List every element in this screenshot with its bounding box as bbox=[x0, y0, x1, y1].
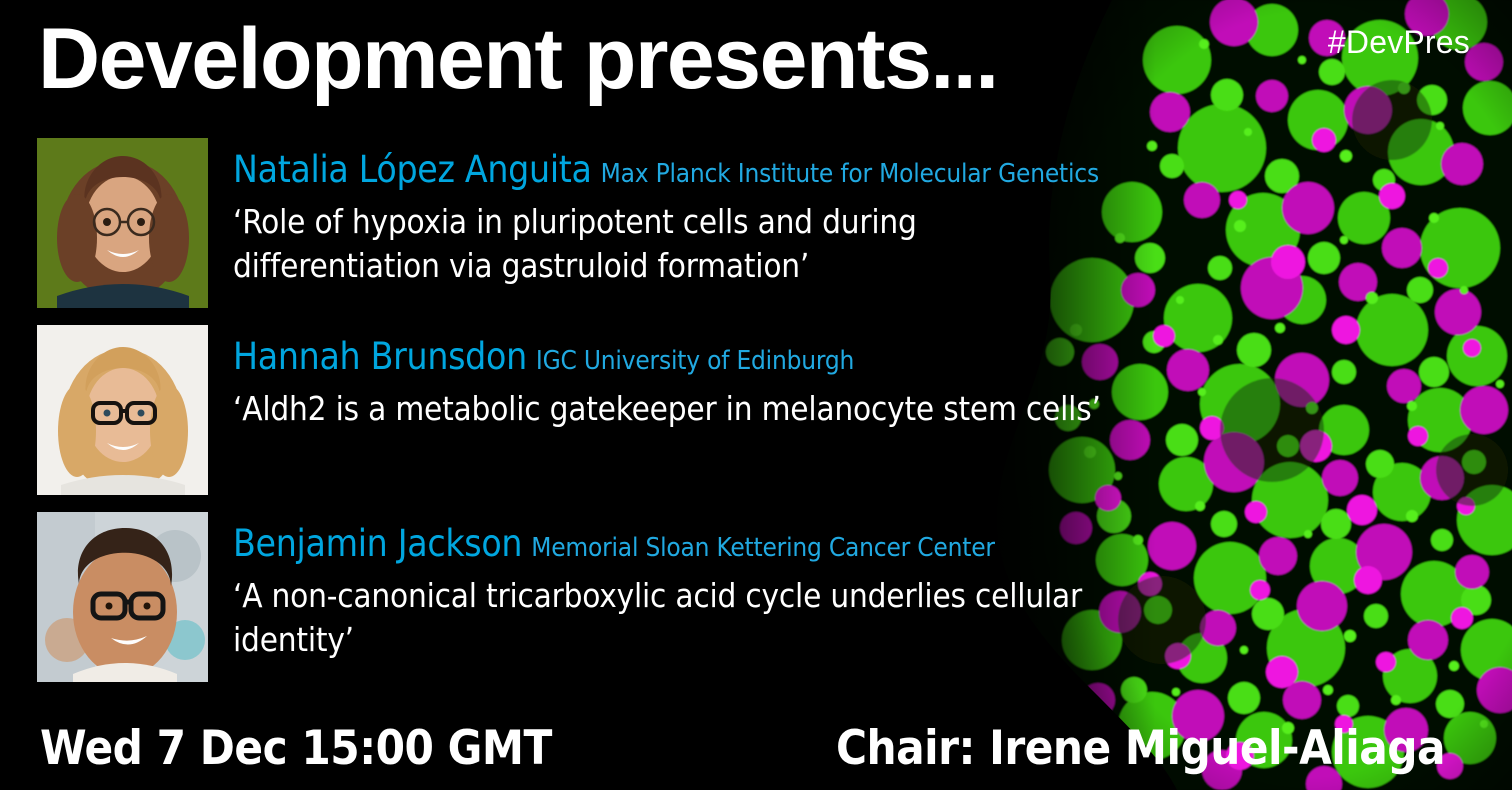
page-title: Development presents... bbox=[38, 11, 998, 107]
webinar-poster: Development presents... #DevPres bbox=[0, 0, 1512, 790]
avatar bbox=[37, 512, 208, 682]
speaker-affiliation: IGC University of Edinburgh bbox=[536, 346, 854, 376]
avatar bbox=[37, 325, 208, 495]
speaker-entry: Natalia López AnguitaMax Planck Institut… bbox=[37, 138, 1113, 308]
speaker-heading: Benjamin JacksonMemorial Sloan Kettering… bbox=[233, 524, 1113, 564]
speaker-details: Benjamin JacksonMemorial Sloan Kettering… bbox=[233, 512, 1113, 662]
event-chair: Chair: Irene Miguel-Aliaga bbox=[836, 722, 1445, 776]
speaker-heading: Hannah BrunsdonIGC University of Edinbur… bbox=[233, 337, 1101, 377]
event-datetime: Wed 7 Dec 15:00 GMT bbox=[40, 722, 552, 776]
speaker-affiliation: Memorial Sloan Kettering Cancer Center bbox=[531, 533, 995, 563]
talk-title: ‘Aldh2 is a metabolic gatekeeper in mela… bbox=[233, 387, 1101, 431]
speaker-name: Hannah Brunsdon bbox=[233, 335, 527, 378]
speaker-entry: Benjamin JacksonMemorial Sloan Kettering… bbox=[37, 512, 1113, 682]
avatar bbox=[37, 138, 208, 308]
speaker-details: Natalia López AnguitaMax Planck Institut… bbox=[233, 138, 1113, 288]
speaker-name: Natalia López Anguita bbox=[233, 148, 592, 191]
talk-title: ‘Role of hypoxia in pluripotent cells an… bbox=[233, 200, 1113, 288]
hashtag-label: #DevPres bbox=[1328, 25, 1470, 59]
speaker-affiliation: Max Planck Institute for Molecular Genet… bbox=[601, 159, 1099, 189]
speaker-heading: Natalia López AnguitaMax Planck Institut… bbox=[233, 150, 1113, 190]
speaker-entry: Hannah BrunsdonIGC University of Edinbur… bbox=[37, 325, 1101, 495]
speaker-details: Hannah BrunsdonIGC University of Edinbur… bbox=[233, 325, 1101, 431]
speaker-name: Benjamin Jackson bbox=[233, 522, 522, 565]
talk-title: ‘A non-canonical tricarboxylic acid cycl… bbox=[233, 574, 1113, 662]
